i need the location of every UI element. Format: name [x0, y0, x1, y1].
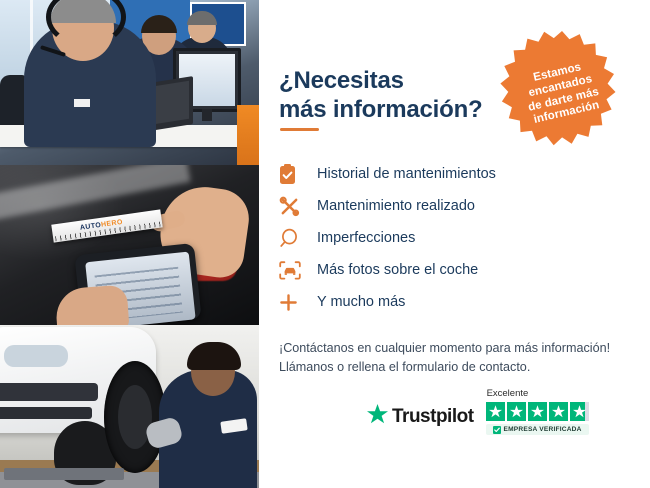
star-filled-4 — [549, 402, 568, 421]
page-title-line-2: más información? — [279, 96, 483, 123]
trustpilot-widget[interactable]: Trustpilot Excelente — [367, 388, 617, 435]
trustpilot-star-icon — [367, 404, 388, 429]
star-filled-3 — [528, 402, 547, 421]
list-item: Imperfecciones — [279, 222, 579, 254]
title-underline-accent — [280, 128, 319, 131]
trustpilot-stars — [486, 402, 589, 421]
verified-check-icon — [493, 426, 501, 434]
magnifier-icon — [279, 226, 309, 250]
trustpilot-wordmark: Trustpilot — [392, 406, 474, 428]
list-item-label: Historial de mantenimientos — [317, 166, 496, 182]
verified-company-badge: EMPRESA VERIFICADA — [486, 424, 589, 435]
car-grille-decor — [0, 383, 98, 401]
page-title-line-1: ¿Necesitas — [279, 67, 404, 94]
list-item-label: Mantenimiento realizado — [317, 198, 475, 214]
call-center-agents-photo — [0, 0, 259, 165]
list-item-label: Y mucho más — [317, 294, 405, 310]
information-banner: AUTOHERO ¿Necesi — [0, 0, 650, 488]
trustpilot-rating-block: Excelente — [486, 388, 589, 435]
autohero-ruler-inspection-photo: AUTOHERO — [0, 165, 259, 325]
promo-starburst-badge: Estamos encantados de darte más informac… — [496, 27, 628, 159]
tools-icon — [279, 194, 309, 218]
car-lower-grille-decor — [0, 407, 92, 419]
list-item: Historial de mantenimientos — [279, 158, 579, 190]
contact-paragraph: ¡Contáctanos en cualquier momento para m… — [279, 339, 639, 378]
star-filled-2 — [507, 402, 526, 421]
feature-list: Historial de mantenimientos Mantenimient… — [279, 158, 579, 318]
list-item-label: Más fotos sobre el coche — [317, 262, 478, 278]
star-filled-1 — [486, 402, 505, 421]
clipboard-check-icon — [279, 162, 309, 186]
name-badge-decor — [74, 99, 90, 107]
list-item: Más fotos sobre el coche — [279, 254, 579, 286]
front-tyre-decor — [104, 361, 166, 473]
trustpilot-rating-label: Excelente — [487, 388, 529, 399]
list-item-label: Imperfecciones — [317, 230, 415, 246]
plus-icon — [279, 290, 309, 314]
trustpilot-logo: Trustpilot — [367, 404, 474, 435]
verified-company-label: EMPRESA VERIFICADA — [504, 426, 582, 433]
contact-paragraph-line-2: Llámanos o rellena el formulario de cont… — [279, 360, 530, 374]
content-panel: ¿Necesitas más información? Estamos — [259, 0, 650, 488]
car-viewfinder-icon — [279, 258, 309, 282]
photo-column: AUTOHERO — [0, 0, 259, 488]
list-item: Mantenimiento realizado — [279, 190, 579, 222]
mechanic-wheel-inspection-photo — [0, 325, 259, 488]
traffic-cone-decor — [237, 105, 259, 165]
list-item: Y mucho más — [279, 286, 579, 318]
star-partial-5 — [570, 402, 589, 421]
contact-paragraph-line-1: ¡Contáctanos en cualquier momento para m… — [279, 341, 610, 355]
car-lift-decor — [4, 468, 124, 480]
